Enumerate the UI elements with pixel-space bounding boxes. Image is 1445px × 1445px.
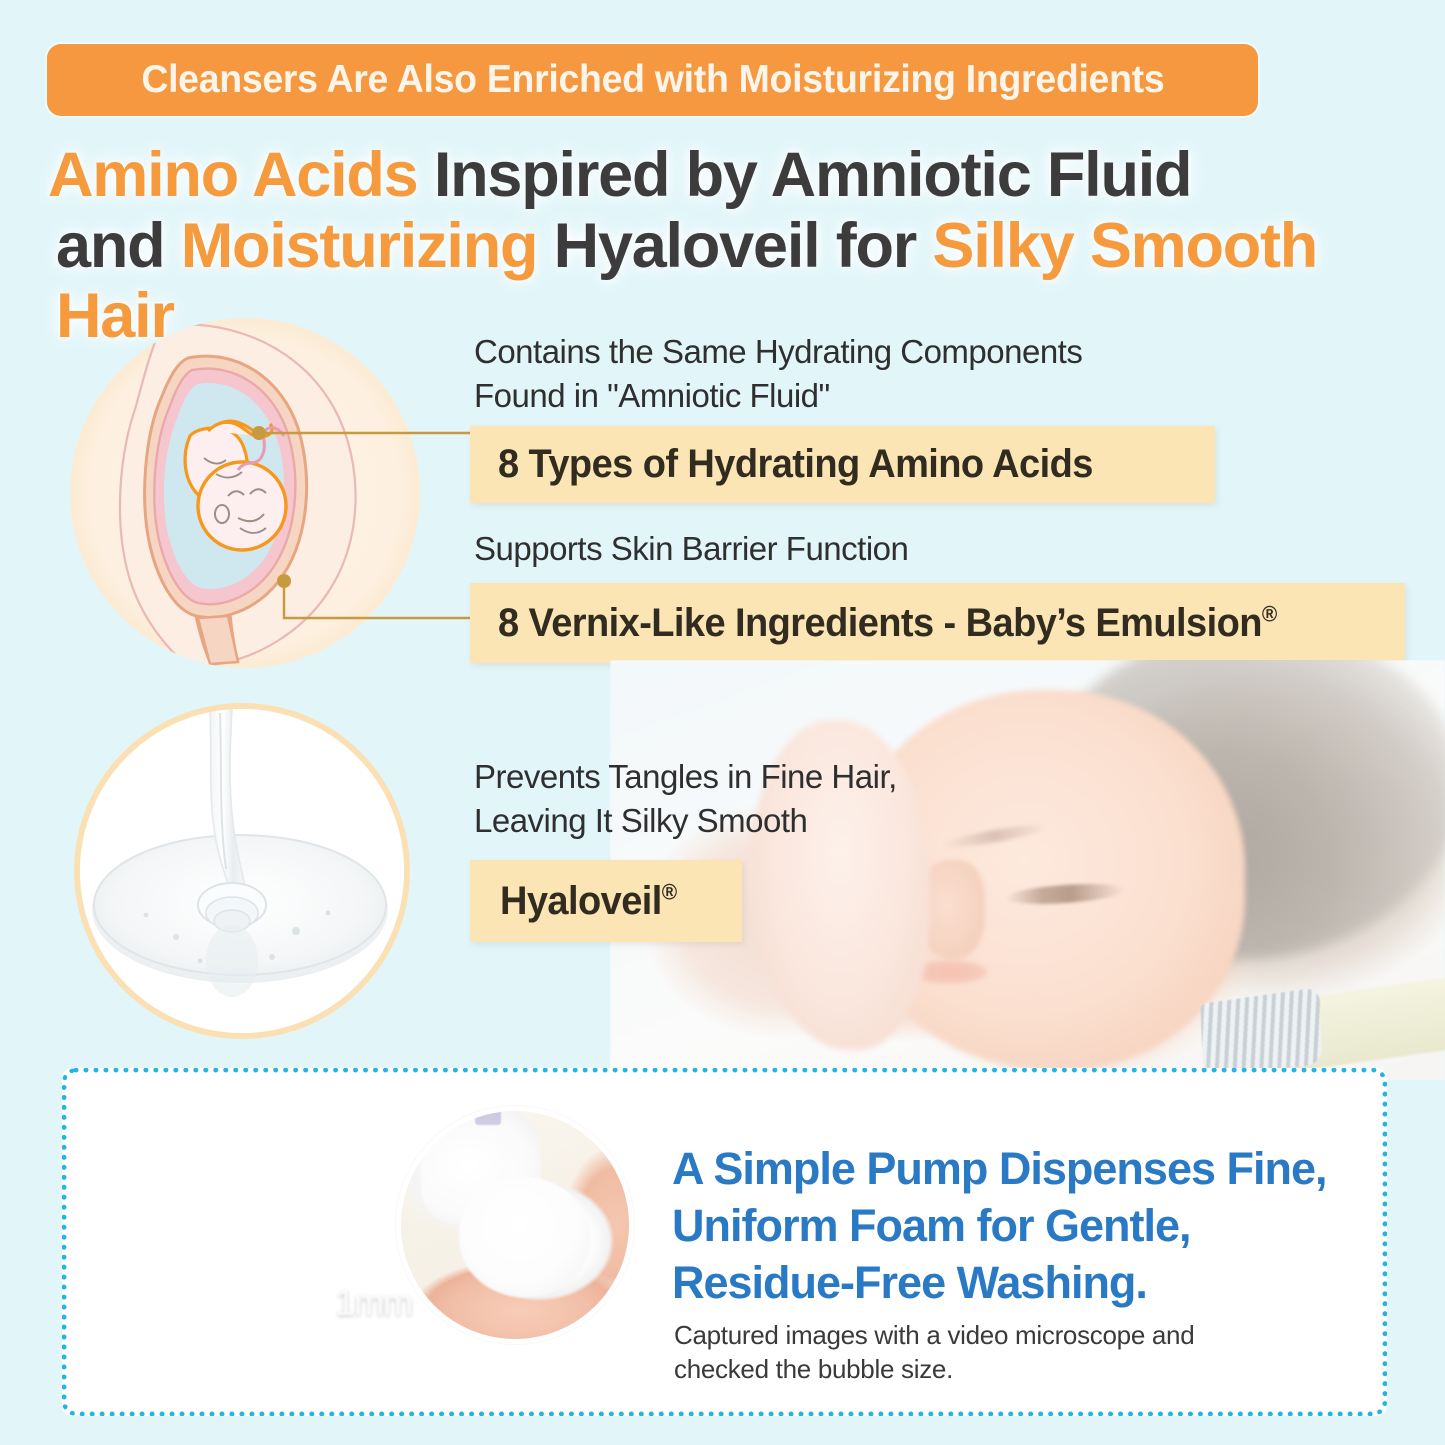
feature-2-lead-line-1: Supports Skin Barrier Function <box>474 527 908 571</box>
registered-mark-vernix: ® <box>1262 601 1277 626</box>
infographic-canvas: Cleansers Are Also Enriched with Moistur… <box>0 0 1445 1445</box>
hand-holding-foam-photo <box>396 1106 634 1344</box>
bottom-heading-line-3: Residue-Free Washing. <box>672 1254 1372 1311</box>
pouring-liquid-illustration <box>80 709 404 1033</box>
womb-fetus-illustration <box>70 318 420 668</box>
page-title-text-3: Hyaloveil for <box>537 211 932 281</box>
feature-3-lead-line-1: Prevents Tangles in Fine Hair, <box>474 755 897 799</box>
page-title-highlight-1: Amino Acids <box>48 140 418 210</box>
bottom-heading-line-2: Uniform Foam for Gentle, <box>672 1197 1372 1254</box>
bottom-heading-line-1: A Simple Pump Dispenses Fine, <box>672 1140 1372 1197</box>
scale-bar <box>328 1335 412 1352</box>
brush-bristles <box>1200 987 1321 1080</box>
feature-3-lead-line-2: Leaving It Silky Smooth <box>474 799 897 843</box>
callout-hyaloveil: Hyaloveil® <box>470 860 742 942</box>
feature-1-lead-line-1: Contains the Same Hydrating Components <box>474 330 1082 374</box>
callout-vernix: 8 Vernix-Like Ingredients - Baby’s Emuls… <box>470 583 1405 663</box>
page-title-text-1: Inspired by Amniotic Fluid <box>418 140 1192 210</box>
feature-1-lead: Contains the Same Hydrating Components F… <box>474 330 1082 418</box>
callout-hyaloveil-label: Hyaloveil <box>500 879 662 923</box>
page-title-line-1: Amino Acids Inspired by Amniotic Fluid <box>48 140 1398 211</box>
foam-blob <box>459 1177 591 1297</box>
pump-cap-label <box>475 1109 501 1125</box>
callout-vernix-label: 8 Vernix-Like Ingredients - Baby’s Emuls… <box>498 601 1262 645</box>
callout-amino-acids-label: 8 Types of Hydrating Amino Acids <box>498 442 1093 487</box>
top-banner-label: Cleansers Are Also Enriched with Moistur… <box>141 58 1164 102</box>
bottom-note-line-1: Captured images with a video microscope … <box>674 1318 1294 1352</box>
top-banner: Cleansers Are Also Enriched with Moistur… <box>47 44 1258 116</box>
page-title-text-2: and <box>56 211 181 281</box>
womb-fetus-icon <box>70 318 420 668</box>
page-title-highlight-2: Moisturizing <box>181 211 538 281</box>
bottom-note-line-2: checked the bubble size. <box>674 1352 1294 1386</box>
pouring-liquid-photo <box>74 703 410 1039</box>
feature-1-lead-line-2: Found in "Amniotic Fluid" <box>474 374 1082 418</box>
foam-bubbles-microscope-photo: 1mm <box>118 1117 428 1378</box>
bottom-heading: A Simple Pump Dispenses Fine, Uniform Fo… <box>672 1140 1372 1311</box>
bottom-note: Captured images with a video microscope … <box>674 1318 1294 1387</box>
callout-amino-acids: 8 Types of Hydrating Amino Acids <box>470 426 1215 503</box>
feature-2-lead: Supports Skin Barrier Function <box>474 527 908 571</box>
feature-3-lead: Prevents Tangles in Fine Hair, Leaving I… <box>474 755 897 843</box>
registered-mark-hyaloveil: ® <box>662 879 677 904</box>
scale-bar-label: 1mm <box>335 1282 412 1324</box>
